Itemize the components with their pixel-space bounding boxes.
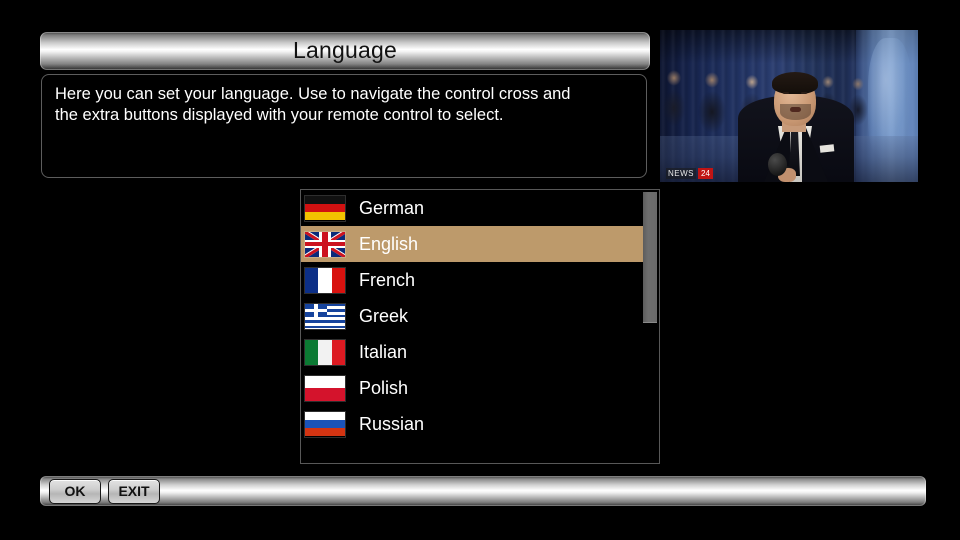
scrollbar-track[interactable] <box>643 192 657 463</box>
list-item[interactable]: Russian <box>301 406 643 442</box>
list-item-label: Russian <box>359 415 424 433</box>
flag-italy-icon <box>305 340 345 365</box>
list-item[interactable]: French <box>301 262 643 298</box>
footer-bar: OK EXIT <box>40 476 926 506</box>
language-list-panel[interactable]: German English French Greek <box>300 189 660 464</box>
list-item-label: Greek <box>359 307 408 325</box>
list-item-label: Italian <box>359 343 407 361</box>
scrollbar-thumb[interactable] <box>643 192 657 323</box>
video-reporter-eye-right <box>801 92 807 95</box>
list-item-label: Polish <box>359 379 408 397</box>
flag-germany-icon <box>305 196 345 221</box>
flag-united-kingdom-icon <box>305 232 345 257</box>
page-title: Language <box>293 39 397 63</box>
exit-button-label: EXIT <box>118 484 149 498</box>
help-text: Here you can set your language. Use to n… <box>55 84 633 126</box>
flag-france-icon <box>305 268 345 293</box>
flag-poland-icon <box>305 376 345 401</box>
channel-bug-accent: 24 <box>698 168 713 179</box>
list-item[interactable]: Greek <box>301 298 643 334</box>
video-reporter-mouth <box>790 107 801 112</box>
language-list: German English French Greek <box>301 190 643 442</box>
list-item-label: French <box>359 271 415 289</box>
video-microphone-head <box>768 153 787 176</box>
list-item-label: English <box>359 235 418 253</box>
list-item[interactable]: German <box>301 190 643 226</box>
list-item[interactable]: Italian <box>301 334 643 370</box>
tv-settings-screen: Language Here you can set your language.… <box>0 0 960 540</box>
video-reporter-pocket-square <box>820 144 835 152</box>
channel-bug: NEWS 24 <box>666 168 713 179</box>
list-item[interactable]: English <box>301 226 643 262</box>
help-text-box: Here you can set your language. Use to n… <box>41 74 647 178</box>
ok-button-label: OK <box>65 484 86 498</box>
list-item-label: German <box>359 199 424 217</box>
ok-button[interactable]: OK <box>49 479 101 504</box>
flag-russia-icon <box>305 412 345 437</box>
video-reporter-eye-left <box>783 92 789 95</box>
flag-greece-icon <box>305 304 345 329</box>
exit-button[interactable]: EXIT <box>108 479 160 504</box>
list-item[interactable]: Polish <box>301 370 643 406</box>
video-reporter-hair <box>772 72 818 94</box>
channel-bug-label: NEWS <box>666 168 696 179</box>
video-preview[interactable]: NEWS 24 <box>660 30 918 182</box>
title-bar: Language <box>40 32 650 70</box>
